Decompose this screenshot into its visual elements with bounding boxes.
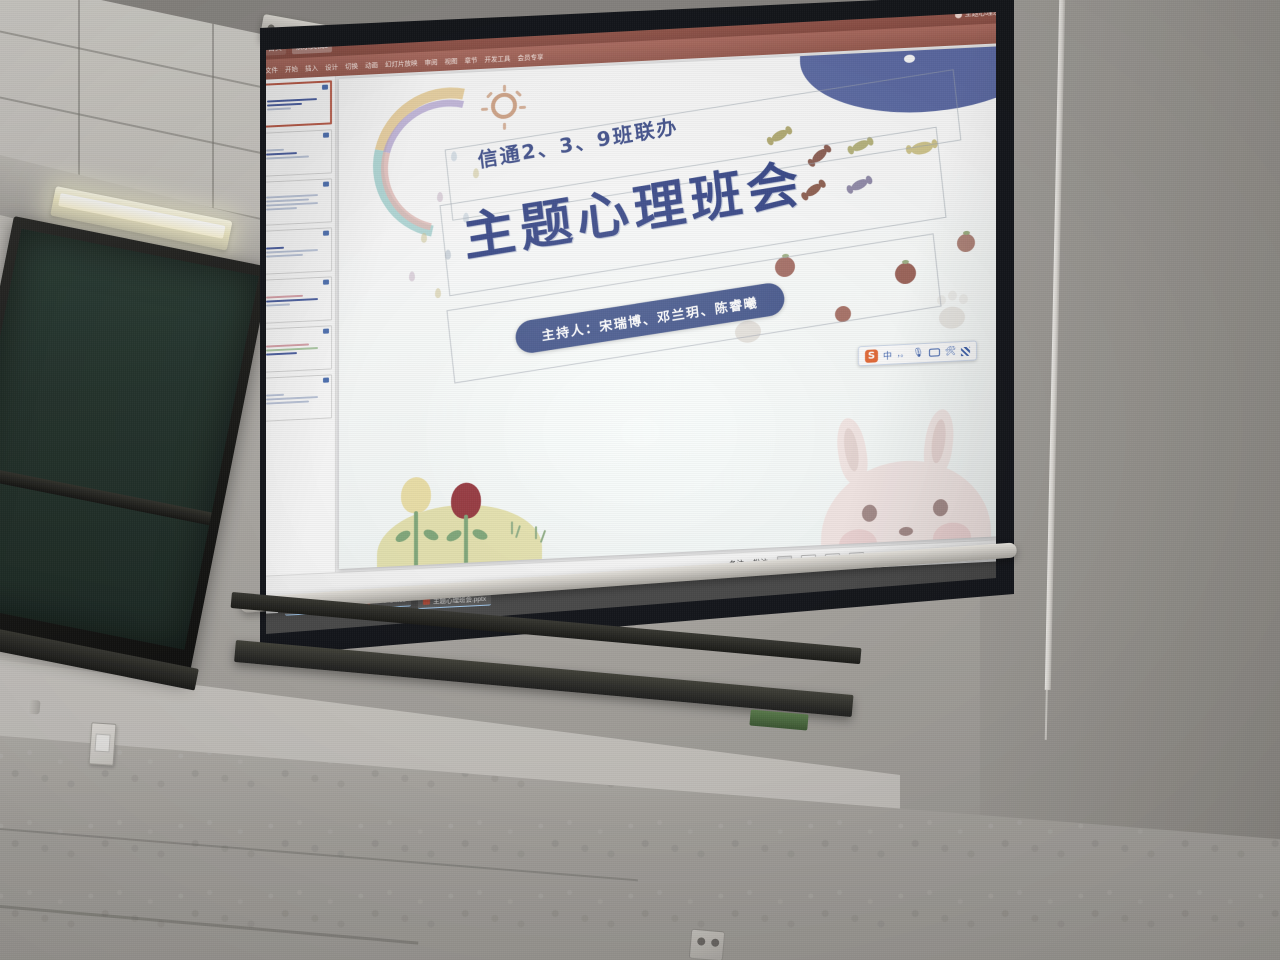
ime-toolbox-icon[interactable]: 🛠 — [945, 346, 956, 357]
ribbon-tab-slideshow[interactable]: 幻灯片放映 — [385, 57, 418, 69]
slide-thumbnail[interactable]: 2 — [261, 129, 332, 177]
slide-surface[interactable]: 信通2、3、9班联办 主题心理班会 主持人：宋瑞博、邓兰玥、陈睿曦 — [339, 45, 1014, 569]
ribbon-tab-view[interactable]: 视图 — [445, 55, 458, 66]
grass-icon — [535, 526, 537, 539]
slide-thumbnail[interactable]: 5 — [261, 276, 332, 324]
show-desktop-button[interactable] — [1013, 596, 1014, 604]
grass-icon — [515, 525, 521, 538]
slide-thumbnail[interactable]: 1 — [261, 80, 332, 128]
clock-date: 2025/12/7 — [973, 600, 1006, 611]
hill-shape — [377, 501, 542, 569]
raindrop-icon — [435, 288, 441, 298]
ribbon-tab-insert[interactable]: 插入 — [305, 62, 318, 73]
raindrop-icon — [421, 233, 427, 243]
sun-icon — [491, 92, 517, 119]
ime-keyboard-icon[interactable] — [929, 348, 940, 357]
paw-print-icon — [939, 306, 965, 329]
slide-thumbnail-badge — [322, 85, 328, 90]
wall-outlet — [689, 929, 725, 960]
slide-canvas-area[interactable]: 信通2、3、9班联办 主题心理班会 主持人：宋瑞博、邓兰玥、陈睿曦 — [336, 42, 1014, 572]
pipe-stub — [27, 700, 40, 715]
ribbon-tab-transition[interactable]: 切换 — [345, 60, 358, 71]
slide-thumbnail-badge — [323, 132, 329, 137]
ribbon-tab-devtools[interactable]: 开发工具 — [485, 53, 511, 64]
sogou-logo-icon[interactable]: S — [865, 349, 878, 363]
wps-window: 首页 演示文稿1 主题心理班会.pptx 文件 开始 插入 设计 切换 动画 — [258, 0, 1014, 598]
ribbon-tab-start[interactable]: 开始 — [285, 63, 298, 74]
sogou-tray-icon[interactable]: S — [961, 599, 966, 606]
ime-mode-icon[interactable]: 中 — [947, 598, 954, 608]
slide-thumbnail[interactable]: 6 — [261, 325, 332, 373]
ime-punctuation-icon[interactable]: ，。 — [897, 349, 908, 360]
raindrop-icon — [437, 192, 443, 202]
ribbon-tab-design[interactable]: 设计 — [325, 61, 338, 72]
ribbon-tab-animation[interactable]: 动画 — [365, 59, 378, 70]
ribbon-tab-file[interactable]: 文件 — [265, 64, 278, 75]
ime-settings-icon[interactable] — [961, 346, 970, 355]
ime-voice-icon[interactable]: 🎙 — [913, 348, 924, 359]
slide-thumbnail-pane[interactable]: 1 2 3 — [258, 76, 336, 576]
light-switch[interactable] — [89, 722, 117, 766]
slide-thumbnail[interactable]: 4 — [261, 227, 332, 275]
grass-icon — [540, 530, 546, 543]
slide-thumbnail[interactable]: 7 — [261, 374, 332, 422]
slide-thumbnail-badge — [323, 328, 329, 333]
fruit-icon — [957, 234, 975, 253]
wps-body: 1 2 3 — [258, 42, 1014, 576]
slide-thumbnail-badge — [323, 377, 329, 382]
ribbon-tab-review[interactable]: 审阅 — [425, 56, 438, 67]
wall-right — [980, 0, 1280, 960]
slide-thumbnail[interactable]: 3 — [261, 178, 332, 226]
ime-chinese-mode-icon[interactable]: 中 — [883, 348, 892, 361]
grass-icon — [511, 521, 513, 534]
ribbon-tab-member[interactable]: 会员专享 — [518, 51, 544, 62]
classroom-scene: 首页 演示文稿1 主题心理班会.pptx 文件 开始 插入 设计 切换 动画 — [0, 0, 1280, 960]
raindrop-icon — [409, 271, 415, 281]
slide-thumbnail-badge — [323, 181, 329, 186]
slide-thumbnail-badge — [323, 230, 329, 235]
ribbon-tab-section[interactable]: 章节 — [465, 54, 478, 65]
tulip-yellow-icon — [391, 475, 451, 569]
tulip-red-icon — [443, 481, 499, 568]
slide-thumbnail-badge — [323, 279, 329, 284]
